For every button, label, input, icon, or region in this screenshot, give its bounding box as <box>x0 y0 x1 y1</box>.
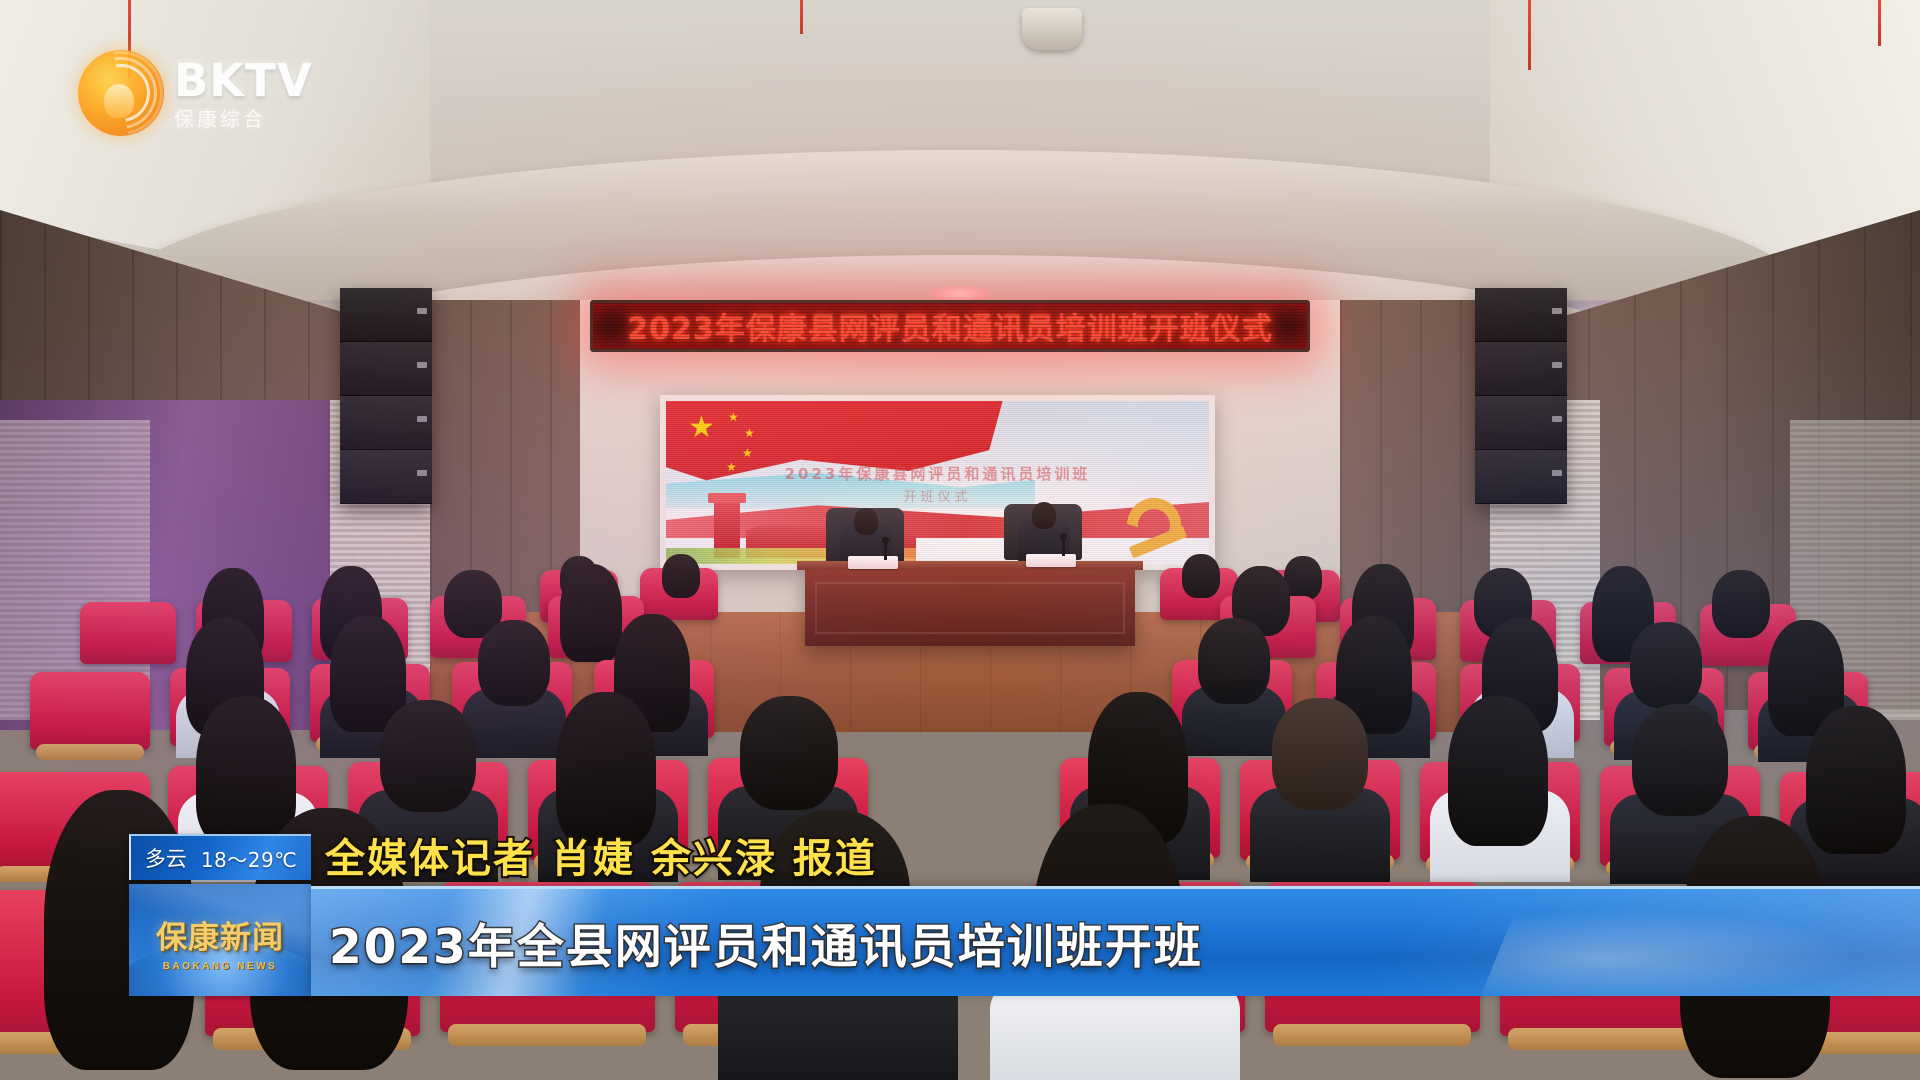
audience-head <box>478 620 550 706</box>
audience-head <box>196 696 296 846</box>
flag-star-small: ★ <box>744 427 755 439</box>
flag-star-small: ★ <box>728 411 739 423</box>
smoke-detector-icon <box>1022 8 1082 50</box>
program-logo-box: 保康新闻 BAOKANG NEWS <box>129 884 311 996</box>
monument-icon <box>714 500 740 558</box>
audience-head <box>1806 706 1906 854</box>
flame-logo-icon <box>78 50 164 136</box>
sky-gradient <box>666 473 1035 509</box>
microphone-right <box>1062 536 1065 556</box>
projection-screen: ★ ★ ★ ★ ★ 2023年保康县网评员和通讯员培训班 开班仪式 <box>666 401 1209 564</box>
audience-head <box>380 700 476 812</box>
flag-star-small: ★ <box>726 461 737 473</box>
headline-text: 2023年全县网评员和通讯员培训班开班 <box>329 908 1203 977</box>
flag-star-large: ★ <box>688 413 715 443</box>
audience-head <box>1712 570 1770 638</box>
presenter-head-right <box>1032 502 1056 529</box>
reporter-credit-strip: 全媒体记者 肖婕 余兴渌 报道 <box>311 824 877 886</box>
chinese-flag-icon: ★ ★ ★ ★ ★ <box>666 401 1003 496</box>
audience-head <box>740 696 838 810</box>
reporter-credit-text: 全媒体记者 肖婕 余兴渌 报道 <box>325 826 877 884</box>
program-name-en: BAOKANG NEWS <box>129 961 311 972</box>
presenter-head-left <box>854 508 878 535</box>
audience-seating <box>0 560 1920 1080</box>
channel-logo: BKTV 保康综合 <box>78 50 313 136</box>
weather-chip: 多云 18～29℃ <box>129 834 311 880</box>
projection-subtitle: 开班仪式 <box>666 486 1209 505</box>
line-array-speaker-left <box>340 288 432 504</box>
channel-logo-text: BKTV 保康综合 <box>174 58 313 129</box>
line-array-speaker-right <box>1475 288 1567 504</box>
audience-head <box>1632 704 1728 816</box>
microphone-left <box>884 540 887 560</box>
party-emblem-icon <box>1095 484 1191 554</box>
audience-head <box>1182 554 1220 598</box>
audience-head <box>662 554 700 598</box>
led-stage-banner: 2023年保康县网评员和通讯员培训班开班仪式 <box>590 300 1310 352</box>
led-banner-text: 2023年保康县网评员和通讯员培训班开班仪式 <box>627 304 1273 348</box>
audience-head <box>1272 698 1368 810</box>
audience-head <box>1630 622 1702 708</box>
hanging-wire <box>800 0 803 34</box>
program-name-zh: 保康新闻 <box>129 912 311 957</box>
red-ribbon-graphic <box>666 498 1209 538</box>
projection-title: 2023年保康县网评员和通讯员培训班 <box>666 463 1209 484</box>
audience-head <box>1448 696 1548 846</box>
weather-temperature: 18～29℃ <box>201 844 297 873</box>
channel-callsign: BKTV <box>174 58 313 103</box>
channel-subtitle: 保康综合 <box>174 109 313 129</box>
weather-condition: 多云 <box>145 843 187 873</box>
hanging-wire <box>1878 0 1881 46</box>
broadcast-screenshot: 2023年保康县网评员和通讯员培训班开班仪式 ★ ★ ★ ★ ★ <box>0 0 1920 1080</box>
seat <box>30 672 150 750</box>
headline-bar: 2023年全县网评员和通讯员培训班开班 <box>311 886 1920 996</box>
seat <box>80 602 176 664</box>
audience-head <box>560 564 622 662</box>
projection-screen-frame: ★ ★ ★ ★ ★ 2023年保康县网评员和通讯员培训班 开班仪式 <box>660 395 1215 570</box>
flag-star-small: ★ <box>742 447 753 459</box>
audience-head <box>1198 618 1270 704</box>
audience-head <box>556 692 656 846</box>
hanging-wire <box>1528 0 1531 70</box>
